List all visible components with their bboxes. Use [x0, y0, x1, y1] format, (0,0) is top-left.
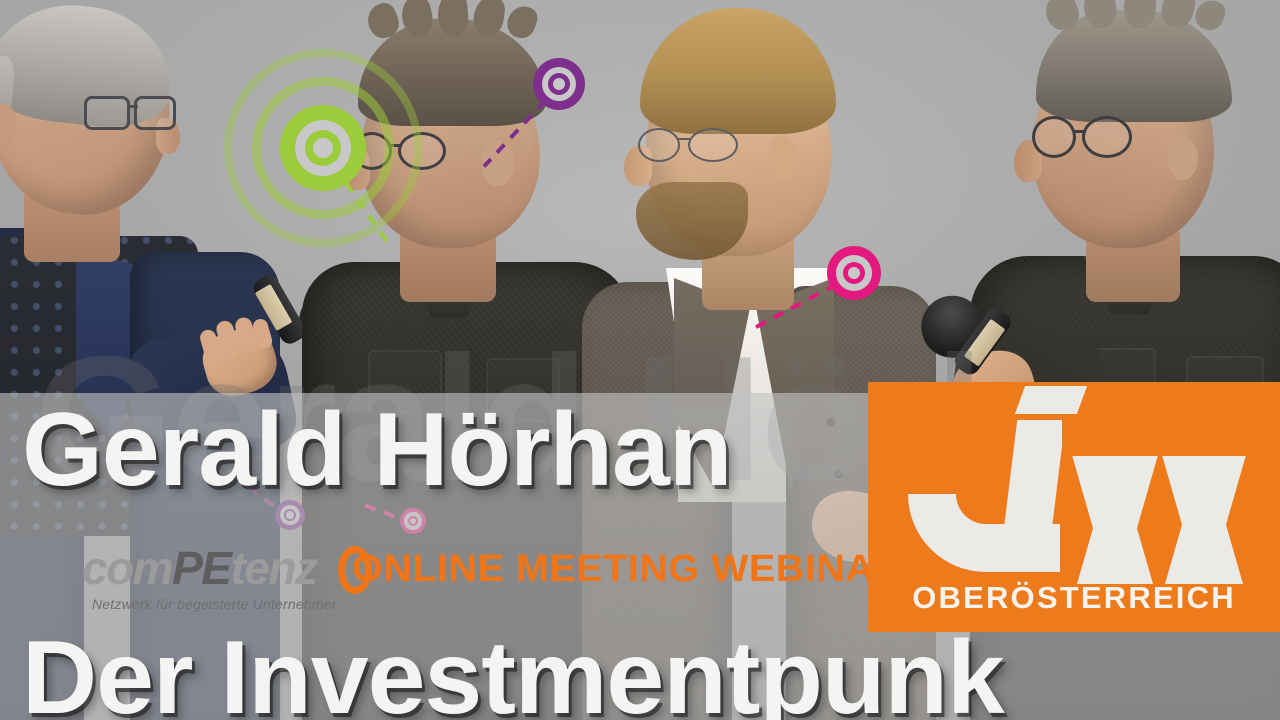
target-green-ring	[295, 120, 352, 177]
competenz-word-tenz: tenz	[230, 542, 316, 594]
hair	[640, 8, 836, 134]
hair	[1036, 10, 1232, 122]
competenz-logo: comPEtenz Netzwerk für begeisterte Unter…	[82, 544, 354, 616]
ear	[1168, 136, 1198, 180]
webinar-banner-text: ONLINE MEETING WEBINAR	[352, 548, 904, 591]
competenz-word-com: com	[82, 542, 172, 594]
thumbnail-canvas: Gerald Hörhan Gerald Hörhan Der Investme…	[0, 0, 1280, 720]
target-pink-ring	[836, 255, 872, 291]
target-green-center-dot	[313, 138, 334, 159]
target-purple-center-dot	[553, 78, 565, 90]
jw-monogram-icon	[902, 420, 1250, 572]
target-green	[280, 105, 366, 191]
ear	[768, 136, 798, 180]
eyeglasses-icon	[84, 96, 180, 132]
orange-ring-icon	[338, 546, 372, 594]
target-pink	[827, 246, 881, 300]
eyeglasses-icon	[1032, 116, 1152, 160]
competenz-tagline: Netzwerk für begeisterte Unternehmer	[92, 596, 337, 612]
competenz-wordmark: comPEtenz	[82, 544, 316, 592]
competenz-word-pe: PE	[172, 542, 230, 594]
target-green-ring-2	[305, 130, 341, 166]
target-purple	[533, 58, 585, 110]
target-purple-ring-2	[548, 73, 570, 95]
jw-logo-block: OBERÖSTERREICH	[868, 382, 1280, 632]
eyeglasses-icon	[638, 128, 756, 166]
target-purple-ring	[542, 67, 576, 101]
target-pink-ring-2	[843, 262, 866, 285]
jw-region-label: OBERÖSTERREICH	[868, 580, 1280, 616]
target-pink-center-dot	[848, 267, 861, 280]
title-line-2: Der Investmentpunk	[0, 626, 1280, 720]
